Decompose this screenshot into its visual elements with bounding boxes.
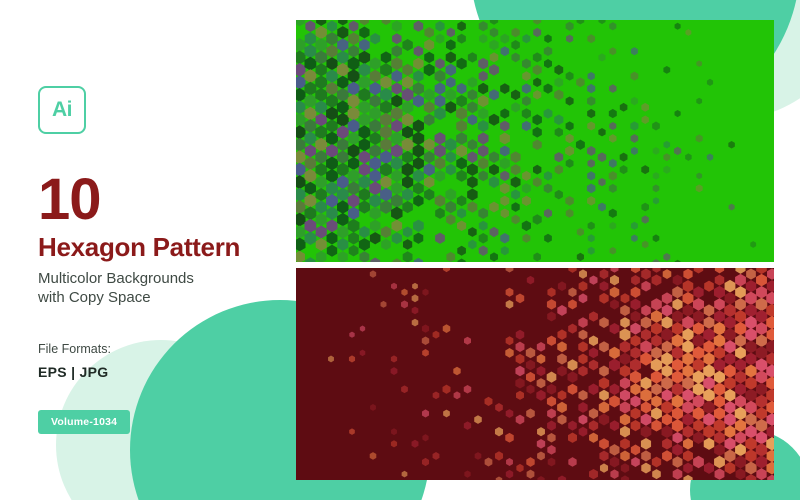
maroon-hexagon-pattern bbox=[296, 268, 774, 480]
volume-badge: Volume-1034 bbox=[38, 410, 130, 434]
file-formats-label: File Formats: bbox=[38, 342, 288, 356]
green-hexagon-preview bbox=[296, 20, 774, 262]
item-count: 10 bbox=[38, 172, 288, 227]
green-hexagon-pattern bbox=[296, 20, 774, 262]
page-subtitle-line-2: with Copy Space bbox=[38, 288, 258, 308]
info-column: Ai 10 Hexagon Pattern Multicolor Backgro… bbox=[38, 86, 288, 434]
ai-badge-label: Ai bbox=[52, 98, 72, 122]
file-formats-value: EPS | JPG bbox=[38, 364, 288, 380]
adobe-illustrator-icon: Ai bbox=[38, 86, 86, 134]
page-subtitle-line-1: Multicolor Backgrounds bbox=[38, 269, 258, 289]
poster-canvas: Ai 10 Hexagon Pattern Multicolor Backgro… bbox=[0, 0, 800, 500]
page-subtitle: Multicolor Backgrounds with Copy Space bbox=[38, 269, 258, 309]
page-title: Hexagon Pattern bbox=[38, 233, 288, 262]
maroon-hexagon-preview bbox=[296, 268, 774, 480]
